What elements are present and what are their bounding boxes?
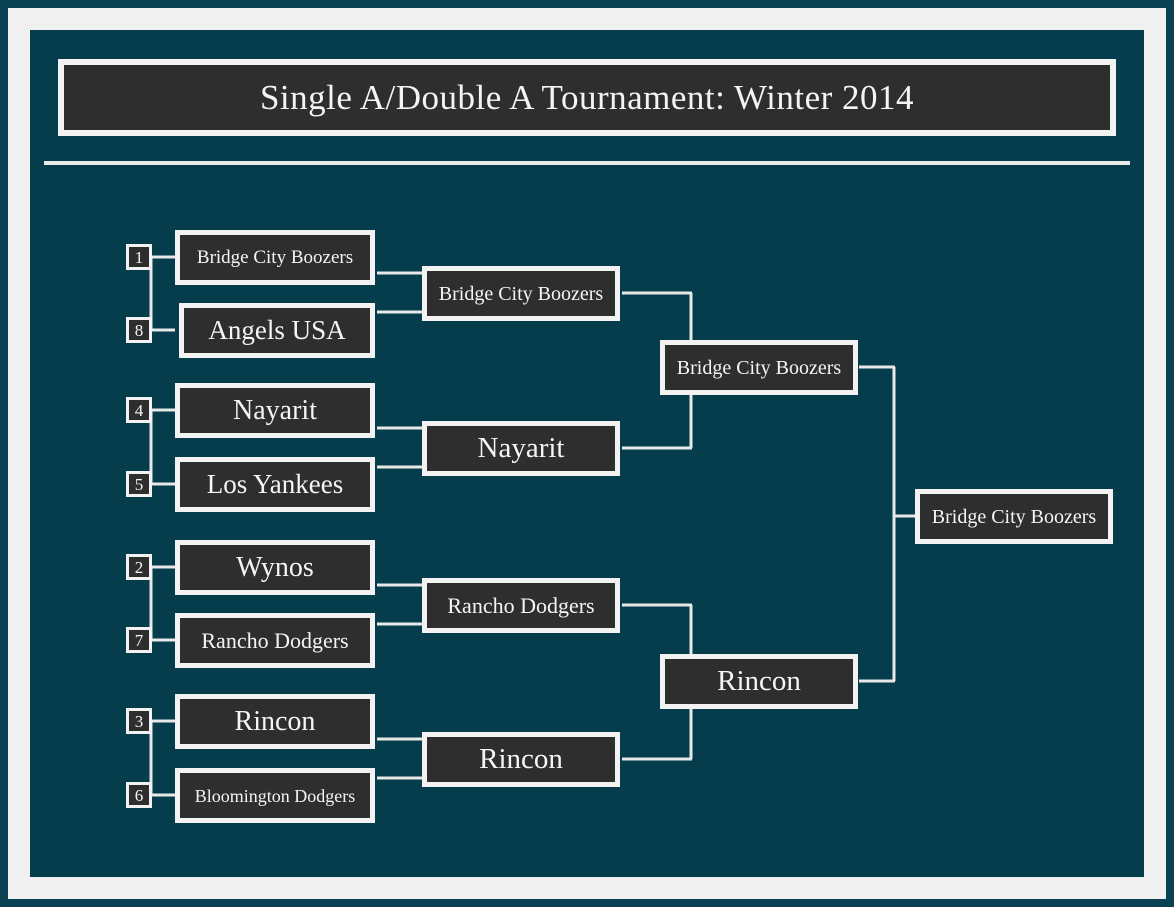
bracket-team-box[interactable]: Rancho Dodgers <box>175 613 375 668</box>
team-name: Wynos <box>236 554 314 582</box>
bracket-team-box[interactable]: Rancho Dodgers <box>422 578 620 633</box>
bracket-area: 1 8 4 5 2 7 3 6 Bridge City Boozers Ange… <box>0 0 1174 907</box>
bracket-team-box[interactable]: Bridge City Boozers <box>660 340 858 395</box>
champion-name: Bridge City Boozers <box>932 507 1096 527</box>
seed-chip: 2 <box>126 554 152 580</box>
bracket-team-box[interactable]: Nayarit <box>422 421 620 476</box>
tournament-poster: Single A/Double A Tournament: Winter 201… <box>0 0 1174 907</box>
team-name: Bloomington Dodgers <box>195 787 356 805</box>
team-name: Nayarit <box>233 397 317 425</box>
seed-number: 3 <box>135 713 144 730</box>
bracket-team-box[interactable]: Los Yankees <box>175 457 375 512</box>
bracket-team-box[interactable]: Nayarit <box>175 383 375 438</box>
team-name: Angels USA <box>208 317 345 344</box>
seed-number: 8 <box>135 322 144 339</box>
team-name: Bridge City Boozers <box>677 358 841 378</box>
seed-chip: 4 <box>126 397 152 423</box>
seed-number: 2 <box>135 559 144 576</box>
seed-number: 4 <box>135 402 144 419</box>
bracket-team-box[interactable]: Bridge City Boozers <box>422 266 620 321</box>
team-name: Rincon <box>235 708 316 736</box>
team-name: Rincon <box>479 745 563 774</box>
team-name: Rincon <box>717 667 801 696</box>
team-name: Nayarit <box>478 434 565 463</box>
bracket-team-box[interactable]: Rincon <box>660 654 858 709</box>
seed-number: 1 <box>135 249 144 266</box>
team-name: Bridge City Boozers <box>439 284 603 304</box>
seed-number: 5 <box>135 476 144 493</box>
bracket-team-box[interactable]: Rincon <box>422 732 620 787</box>
champion-box[interactable]: Bridge City Boozers <box>915 489 1113 544</box>
bracket-team-box[interactable]: Angels USA <box>179 303 375 358</box>
bracket-team-box[interactable]: Bloomington Dodgers <box>175 768 375 823</box>
seed-chip: 7 <box>126 627 152 653</box>
bracket-team-box[interactable]: Bridge City Boozers <box>175 230 375 285</box>
bracket-team-box[interactable]: Rincon <box>175 694 375 749</box>
seed-chip: 1 <box>126 244 152 270</box>
team-name: Rancho Dodgers <box>201 630 348 652</box>
team-name: Rancho Dodgers <box>447 595 594 617</box>
bracket-team-box[interactable]: Wynos <box>175 540 375 595</box>
team-name: Bridge City Boozers <box>197 248 353 267</box>
team-name: Los Yankees <box>207 471 344 498</box>
seed-number: 6 <box>135 787 144 804</box>
seed-number: 7 <box>135 632 144 649</box>
seed-chip: 6 <box>126 782 152 808</box>
seed-chip: 3 <box>126 708 152 734</box>
seed-chip: 5 <box>126 471 152 497</box>
seed-chip: 8 <box>126 317 152 343</box>
